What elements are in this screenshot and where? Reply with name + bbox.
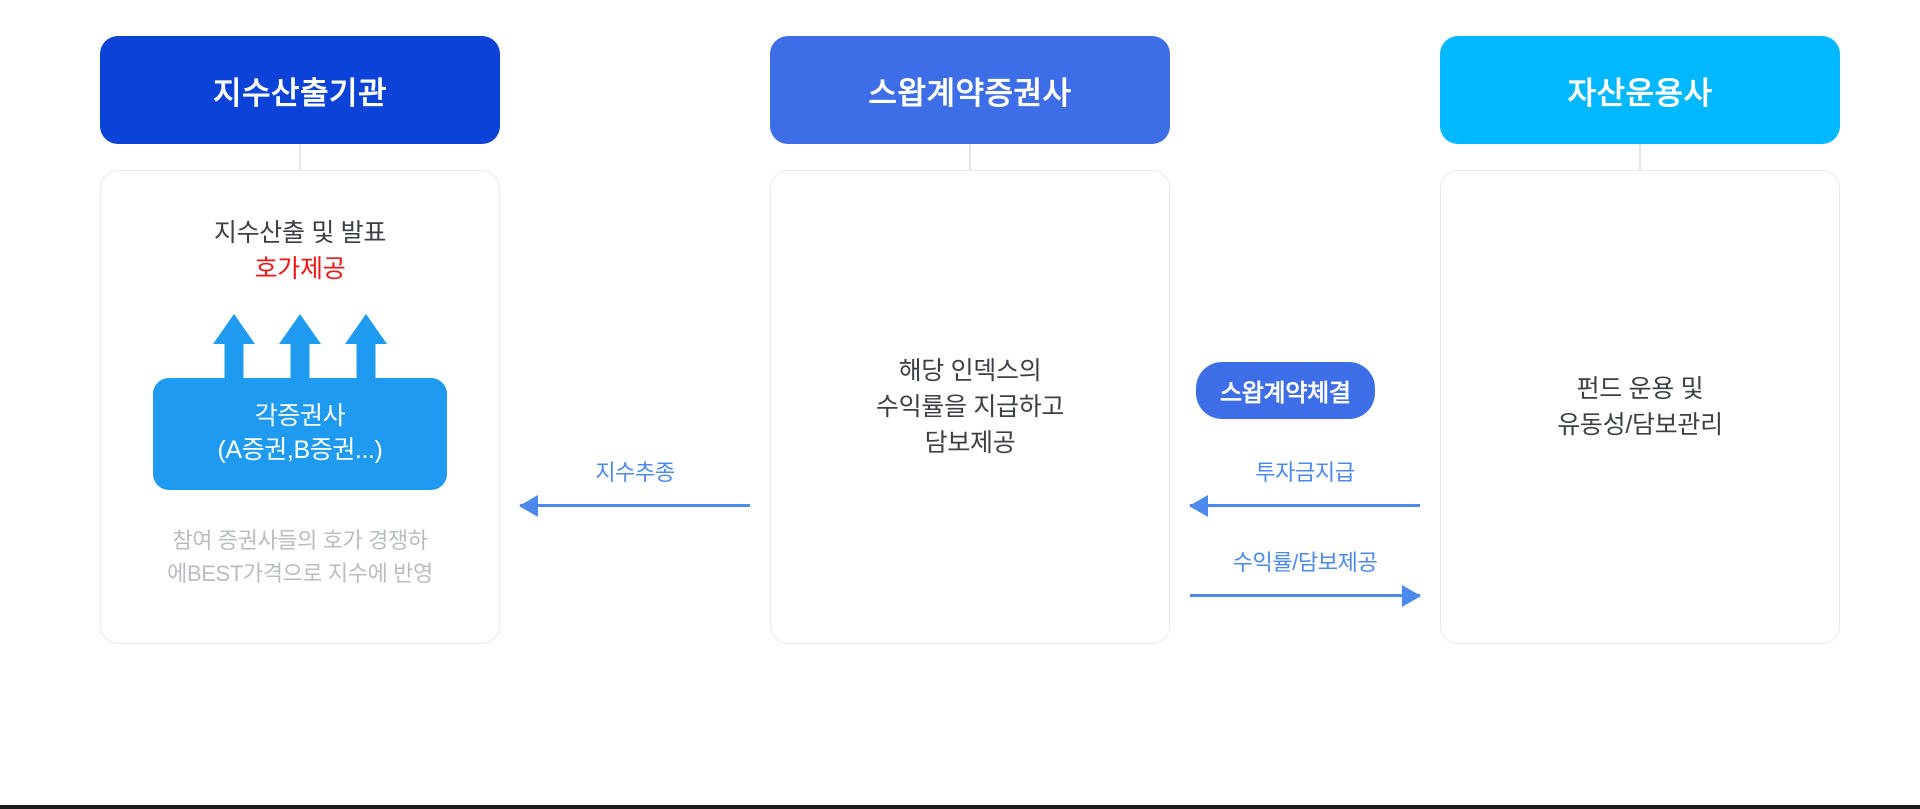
badge-swap-contract[interactable]: 스왑계약체결	[1196, 362, 1375, 419]
swap-body-line-1: 해당 인덱스의	[899, 353, 1042, 389]
asset-body-line-1: 펀드 운용 및	[1577, 371, 1704, 407]
index-note-text: 참여 증권사들의 호가 경쟁하에BEST가격으로 지수에 반영	[166, 524, 434, 590]
column-index-provider: 지수산출기관 지수산출 및 발표 호가제공 각증권사 (A증권,B증권...)	[100, 36, 500, 644]
card-asset-manager: 펀드 운용 및 유동성/담보관리	[1440, 170, 1840, 644]
arrow-left-icon	[1190, 495, 1420, 515]
brokers-box-line-1: 각증권사	[255, 400, 345, 434]
header-swap-broker[interactable]: 스왑계약증권사	[770, 36, 1170, 144]
flow-return-collateral: 수익률/담보제공	[1190, 545, 1420, 605]
diagram-canvas: 지수산출기관 지수산출 및 발표 호가제공 각증권사 (A증권,B증권...)	[0, 0, 1920, 809]
brokers-box[interactable]: 각증권사 (A증권,B증권...)	[153, 378, 447, 490]
arrow-right-icon	[1190, 585, 1420, 605]
flow-investment-payment: 투자금지급	[1190, 455, 1420, 515]
index-highlight-line: 호가제공	[255, 251, 346, 287]
broker-quote-arrows	[213, 314, 387, 380]
column-swap-broker: 스왑계약증권사 해당 인덱스의 수익률을 지급하고 담보제공	[770, 36, 1170, 644]
swap-body-line-2: 수익률을 지급하고	[876, 389, 1064, 425]
brokers-box-line-2: (A증권,B증권...)	[218, 434, 383, 468]
card-index-provider: 지수산출 및 발표 호가제공 각증권사 (A증권,B증권...) 참여 증권사들…	[100, 170, 500, 644]
header-index-provider[interactable]: 지수산출기관	[100, 36, 500, 144]
arrow-up-icon	[345, 314, 387, 380]
index-body-line-1: 지수산출 및 발표	[214, 215, 386, 251]
header-asset-manager[interactable]: 자산운용사	[1440, 36, 1840, 144]
header-card-connector-index	[299, 144, 301, 172]
asset-body-line-2: 유동성/담보관리	[1557, 407, 1723, 443]
card-swap-broker: 해당 인덱스의 수익률을 지급하고 담보제공	[770, 170, 1170, 644]
arrow-up-icon	[279, 314, 321, 380]
arrow-up-icon	[213, 314, 255, 380]
flow-index-tracking: 지수추종	[520, 455, 750, 515]
flow-label-investment-payment: 투자금지급	[1190, 455, 1420, 487]
header-card-connector-asset	[1639, 144, 1641, 172]
column-asset-manager: 자산운용사 펀드 운용 및 유동성/담보관리	[1440, 36, 1840, 644]
swap-body-line-3: 담보제공	[925, 425, 1016, 461]
header-card-connector-swap	[969, 144, 971, 172]
arrow-left-icon	[520, 495, 750, 515]
flow-label-index-tracking: 지수추종	[520, 455, 750, 487]
flow-label-return-collateral: 수익률/담보제공	[1190, 545, 1420, 577]
